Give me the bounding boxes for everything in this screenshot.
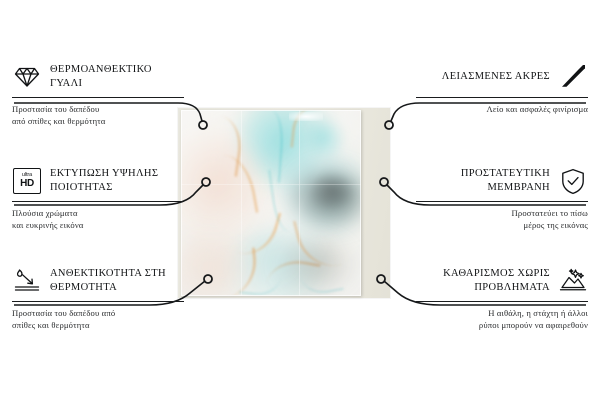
decorative-glass-panel [181, 110, 361, 296]
feature-description-line: Προστατεύει το πίσω [416, 207, 588, 219]
feature-description-line: μέρος της εικόνας [416, 219, 588, 231]
feature-title: ΘΕΡΜΟΑΝΘΕΚΤΙΚΟ ΓΥΑΛΙ [50, 63, 184, 91]
feature-description-line: σπίθες και θερμότητα [12, 319, 184, 331]
diagonal-stripes-icon [558, 62, 588, 92]
feature-description-line: Πλούσια χρώματα [12, 207, 184, 219]
feature-header: ΛΕΙΑΣΜΕΝΕΣ ΑΚΡΕΣ [416, 62, 588, 92]
feature-heat-durability: ΑΝΘΕΚΤΙΚΟΤΗΤΑ ΣΤΗ ΘΕΡΜΟΤΗΤΑ Προστασία το… [12, 266, 184, 331]
feature-header: ΑΝΘΕΚΤΙΚΟΤΗΤΑ ΣΤΗ ΘΕΡΜΟΤΗΤΑ [12, 266, 184, 296]
feature-description: Προστασία του δαπέδου από σπίθες και θερ… [12, 307, 184, 331]
infographic-canvas: ΘΕΡΜΟΑΝΘΕΚΤΙΚΟ ΓΥΑΛΙ Προστασία του δαπέδ… [0, 0, 600, 400]
feature-title: ΕΚΤΥΠΩΣΗ ΥΨΗΛΗΣ ΠΟΙΟΤΗΤΑΣ [50, 167, 184, 195]
feature-title: ΠΡΟΣΤΑΤΕΥΤΙΚΗ ΜΕΜΒΡΑΝΗ [416, 167, 550, 195]
feature-divider [12, 301, 184, 302]
feature-description-line: Λείο και ασφαλές φινίρισμα [416, 103, 588, 115]
feature-description: Πλούσια χρώματα και ευκρινής εικόνα [12, 207, 184, 231]
feature-title: ΚΑΘΑΡΙΣΜΟΣ ΧΩΡΙΣ ΠΡΟΒΛΗΜΑΤΑ [416, 267, 550, 295]
feature-title: ΑΝΘΕΚΤΙΚΟΤΗΤΑ ΣΤΗ ΘΕΡΜΟΤΗΤΑ [50, 267, 184, 295]
feature-description-line: Προστασία του δαπέδου από [12, 307, 184, 319]
feature-header: ΘΕΡΜΟΑΝΘΕΚΤΙΚΟ ΓΥΑΛΙ [12, 62, 184, 92]
feature-heat-resistant-glass: ΘΕΡΜΟΑΝΘΕΚΤΙΚΟ ΓΥΑΛΙ Προστασία του δαπέδ… [12, 62, 184, 127]
ultra-hd-icon: ultra HD [12, 166, 42, 196]
ultra-hd-badge: ultra HD [13, 168, 41, 194]
feature-protective-membrane: ΠΡΟΣΤΑΤΕΥΤΙΚΗ ΜΕΜΒΡΑΝΗ Προστατεύει το πί… [416, 166, 588, 231]
feature-description-line: από σπίθες και θερμότητα [12, 115, 184, 127]
feature-high-quality-print: ultra HD ΕΚΤΥΠΩΣΗ ΥΨΗΛΗΣ ΠΟΙΟΤΗΤΑΣ Πλούσ… [12, 166, 184, 231]
feature-description-line: ρύποι μπορούν να αφαιρεθούν [416, 319, 588, 331]
feature-description-line: Η αιθάλη, η στάχτη ή άλλοι [416, 307, 588, 319]
feature-easy-cleaning: ΚΑΘΑΡΙΣΜΟΣ ΧΩΡΙΣ ΠΡΟΒΛΗΜΑΤΑ Η αιθάλη, η … [416, 266, 588, 331]
feature-divider [416, 201, 588, 202]
feature-description-line: Προστασία του δαπέδου [12, 103, 184, 115]
feature-header: ΠΡΟΣΤΑΤΕΥΤΙΚΗ ΜΕΜΒΡΑΝΗ [416, 166, 588, 196]
ink-graphite-core [307, 172, 355, 210]
feature-polished-edges: ΛΕΙΑΣΜΕΝΕΣ ΑΚΡΕΣ Λείο και ασφαλές φινίρι… [416, 62, 588, 115]
feature-divider [12, 201, 184, 202]
ultra-hd-large-text: HD [20, 179, 34, 189]
feature-description-line: και ευκρινής εικόνα [12, 219, 184, 231]
vein-gold-5 [291, 110, 346, 152]
product-image [181, 110, 385, 296]
feature-title: ΛΕΙΑΣΜΕΝΕΣ ΑΚΡΕΣ [416, 70, 550, 84]
feature-header: ultra HD ΕΚΤΥΠΩΣΗ ΥΨΗΛΗΣ ΠΟΙΟΤΗΤΑΣ [12, 166, 184, 196]
feature-divider [416, 97, 588, 98]
feature-divider [416, 301, 588, 302]
feature-description: Προστατεύει το πίσω μέρος της εικόνας [416, 207, 588, 231]
diamond-icon [12, 62, 42, 92]
feature-description: Προστασία του δαπέδου από σπίθες και θερ… [12, 103, 184, 127]
feature-description: Λείο και ασφαλές φινίρισμα [416, 103, 588, 115]
feature-divider [12, 97, 184, 98]
flame-arrow-surface-icon [12, 266, 42, 296]
feature-description: Η αιθάλη, η στάχτη ή άλλοι ρύποι μπορούν… [416, 307, 588, 331]
feature-header: ΚΑΘΑΡΙΣΜΟΣ ΧΩΡΙΣ ΠΡΟΒΛΗΜΑΤΑ [416, 266, 588, 296]
sparkle-wipe-icon [558, 266, 588, 296]
shield-check-icon [558, 166, 588, 196]
